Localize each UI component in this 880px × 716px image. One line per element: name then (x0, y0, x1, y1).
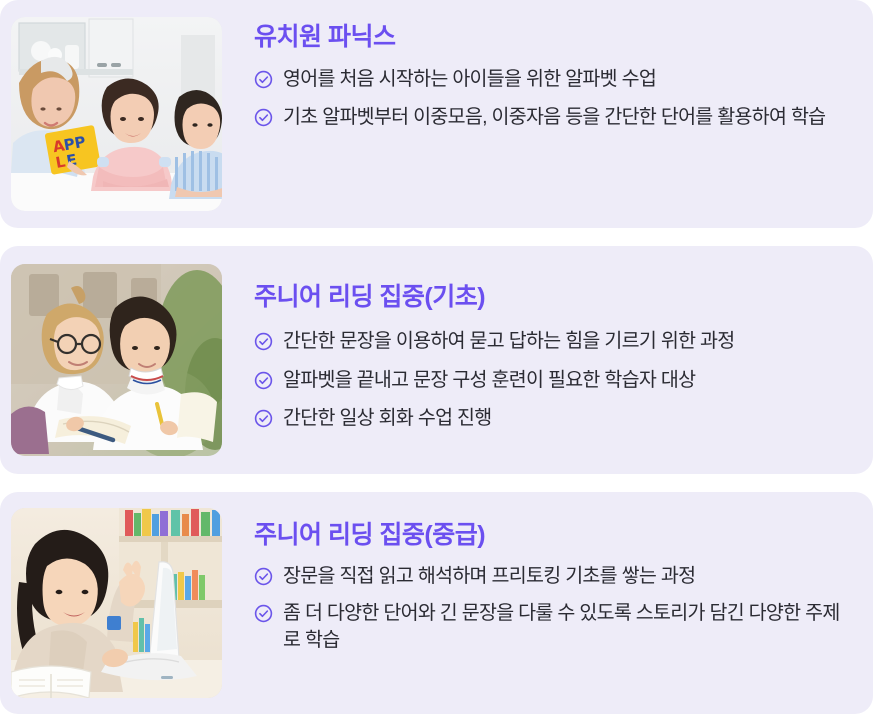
course-title: 주니어 리딩 집중(기초) (254, 282, 855, 312)
course-feature-item: 간단한 문장을 이용하여 묻고 답하는 힘을 기르기 위한 과정 (254, 328, 855, 356)
course-feature-text: 좀 더 다양한 단어와 긴 문장을 다룰 수 있도록 스토리가 담긴 다양한 주… (283, 602, 840, 652)
check-circle-icon (254, 70, 273, 89)
course-feature-item: 영어를 처음 시작하는 아이들을 위한 알파벳 수업 (254, 66, 855, 94)
course-feature-text: 간단한 문장을 이용하여 묻고 답하는 힘을 기르기 위한 과정 (283, 330, 735, 352)
check-circle-icon (254, 108, 273, 127)
course-feature-item: 기초 알파벳부터 이중모음, 이중자음 등을 간단한 단어를 활용하여 학습 (254, 104, 855, 132)
course-feature-item: 좀 더 다양한 단어와 긴 문장을 다룰 수 있도록 스토리가 담긴 다양한 주… (254, 600, 855, 655)
course-feature-item: 장문을 직접 읽고 해석하며 프리토킹 기초를 쌓는 과정 (254, 563, 855, 591)
course-card[interactable]: 주니어 리딩 집중(중급) 장문을 직접 읽고 해석하며 프리토킹 기초를 쌓는… (0, 492, 873, 714)
course-feature-item: 알파벳을 끝내고 문장 구성 훈련이 필요한 학습자 대상 (254, 367, 855, 395)
check-circle-icon (254, 604, 273, 623)
course-feature-list: 장문을 직접 읽고 해석하며 프리토킹 기초를 쌓는 과정 좀 더 다양한 단어… (254, 563, 855, 655)
course-feature-text: 영어를 처음 시작하는 아이들을 위한 알파벳 수업 (283, 68, 656, 90)
check-circle-icon (254, 567, 273, 586)
course-title: 유치원 파닉스 (254, 22, 855, 52)
course-thumbnail-junior-reading-intermediate (11, 508, 222, 698)
course-feature-text: 간단한 일상 회화 수업 진행 (283, 407, 492, 429)
course-content: 주니어 리딩 집중(기초) 간단한 문장을 이용하여 묻고 답하는 힘을 기르기… (222, 246, 873, 433)
course-content: 주니어 리딩 집중(중급) 장문을 직접 읽고 해석하며 프리토킹 기초를 쌓는… (222, 492, 873, 655)
course-feature-item: 간단한 일상 회화 수업 진행 (254, 405, 855, 433)
course-feature-text: 알파벳을 끝내고 문장 구성 훈련이 필요한 학습자 대상 (283, 369, 695, 391)
course-content: 유치원 파닉스 영어를 처음 시작하는 아이들을 위한 알파벳 수업 (222, 0, 873, 131)
course-feature-list: 간단한 문장을 이용하여 묻고 답하는 힘을 기르기 위한 과정 알파벳을 끝내… (254, 328, 855, 433)
course-feature-list: 영어를 처음 시작하는 아이들을 위한 알파벳 수업 기초 알파벳부터 이중모음… (254, 66, 855, 131)
course-feature-text: 장문을 직접 읽고 해석하며 프리토킹 기초를 쌓는 과정 (283, 565, 695, 587)
check-circle-icon (254, 371, 273, 390)
check-circle-icon (254, 332, 273, 351)
course-card[interactable]: A P P L E (0, 0, 873, 228)
check-circle-icon (254, 409, 273, 428)
course-title: 주니어 리딩 집중(중급) (254, 520, 855, 550)
course-card[interactable]: 주니어 리딩 집중(기초) 간단한 문장을 이용하여 묻고 답하는 힘을 기르기… (0, 246, 873, 474)
course-thumbnail-kindergarten-phonics: A P P L E (11, 17, 222, 211)
course-list: A P P L E (0, 0, 880, 714)
course-thumbnail-junior-reading-basic (11, 264, 222, 456)
course-feature-text: 기초 알파벳부터 이중모음, 이중자음 등을 간단한 단어를 활용하여 학습 (283, 106, 825, 128)
